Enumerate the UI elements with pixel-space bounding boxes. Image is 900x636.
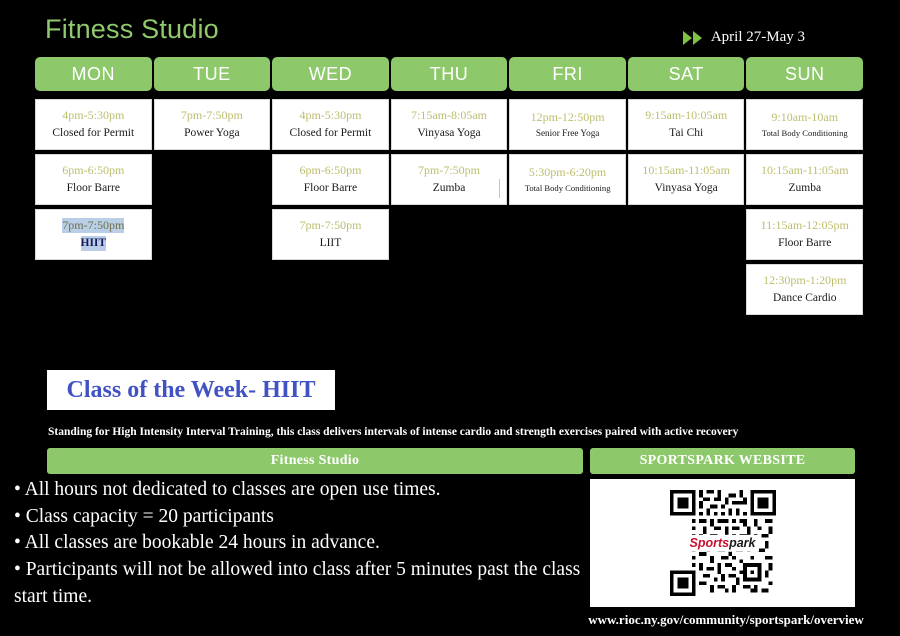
class-name: Closed for Permit bbox=[290, 126, 372, 141]
class-cell[interactable]: 7pm-7:50pmLIIT bbox=[272, 209, 389, 260]
class-of-the-week-description: Standing for High Intensity Interval Tra… bbox=[48, 426, 838, 438]
day-header-row: MON TUE WED THU FRI SAT SUN bbox=[35, 57, 863, 91]
day-header-sat[interactable]: SAT bbox=[628, 57, 745, 91]
class-name: Floor Barre bbox=[304, 181, 357, 196]
class-cell[interactable]: 6pm-6:50pmFloor Barre bbox=[272, 154, 389, 205]
class-cell[interactable]: 4pm-5:30pmClosed for Permit bbox=[272, 99, 389, 150]
day-header-fri[interactable]: FRI bbox=[509, 57, 626, 91]
class-time: 5:30pm-6:20pm bbox=[529, 165, 606, 180]
class-time: 9:10am-10am bbox=[771, 110, 838, 125]
class-time: 11:15am-12:05pm bbox=[761, 218, 849, 233]
class-cell[interactable]: 6pm-6:50pmFloor Barre bbox=[35, 154, 152, 205]
class-cell[interactable]: 5:30pm-6:20pmTotal Body Conditioning bbox=[509, 154, 626, 205]
class-cell[interactable]: 9:15am-10:05amTai Chi bbox=[628, 99, 745, 150]
class-time: 7pm-7:50pm bbox=[299, 218, 361, 233]
day-column-wed: 4pm-5:30pmClosed for Permit6pm-6:50pmFlo… bbox=[272, 99, 389, 315]
day-column-fri: 12pm-12:50pmSenior Free Yoga5:30pm-6:20p… bbox=[509, 99, 626, 315]
class-of-the-week-title: Class of the Week- HIIT bbox=[67, 377, 316, 404]
class-time: 7:15am-8:05am bbox=[411, 108, 487, 123]
text-cursor bbox=[499, 179, 500, 198]
day-column-thu: 7:15am-8:05amVinyasa Yoga7pm-7:50pmZumba bbox=[391, 99, 508, 315]
class-time: 10:15am-11:05am bbox=[761, 163, 849, 178]
site-url[interactable]: www.rioc.ny.gov/community/sportspark/ove… bbox=[566, 612, 886, 628]
class-name: Dance Cardio bbox=[773, 291, 837, 306]
day-column-mon: 4pm-5:30pmClosed for Permit6pm-6:50pmFlo… bbox=[35, 99, 152, 315]
class-name: Total Body Conditioning bbox=[525, 183, 611, 194]
class-time: 7pm-7:50pm bbox=[181, 108, 243, 123]
class-name: Floor Barre bbox=[67, 181, 120, 196]
day-column-tue: 7pm-7:50pmPower Yoga bbox=[154, 99, 271, 315]
schedule-grid: 4pm-5:30pmClosed for Permit6pm-6:50pmFlo… bbox=[35, 99, 863, 315]
class-time: 12pm-12:50pm bbox=[531, 110, 605, 125]
class-time: 7pm-7:50pm bbox=[62, 218, 124, 233]
class-cell[interactable]: 7pm-7:50pmHIIT bbox=[35, 209, 152, 260]
class-cell[interactable]: 4pm-5:30pmClosed for Permit bbox=[35, 99, 152, 150]
class-name: Tai Chi bbox=[669, 126, 703, 141]
class-cell[interactable]: 10:15am-11:05amVinyasa Yoga bbox=[628, 154, 745, 205]
class-name: Vinyasa Yoga bbox=[417, 126, 480, 141]
class-name: HIIT bbox=[81, 236, 107, 251]
info-bullet: • All hours not dedicated to classes are… bbox=[14, 477, 586, 504]
class-time: 4pm-5:30pm bbox=[62, 108, 124, 123]
day-header-thu[interactable]: THU bbox=[391, 57, 508, 91]
class-name: Zumba bbox=[788, 181, 821, 196]
class-time: 7pm-7:50pm bbox=[418, 163, 480, 178]
info-list: • All hours not dedicated to classes are… bbox=[14, 477, 586, 611]
double-right-arrow-icon[interactable] bbox=[683, 31, 702, 45]
day-header-wed[interactable]: WED bbox=[272, 57, 389, 91]
sportspark-logo: Sportspark bbox=[687, 535, 759, 552]
date-range: April 27-May 3 bbox=[683, 29, 805, 46]
class-name: Power Yoga bbox=[184, 126, 240, 141]
info-bullet: • Participants will not be allowed into … bbox=[14, 557, 586, 610]
class-cell[interactable]: 7pm-7:50pmZumba bbox=[391, 154, 508, 205]
class-time: 12:30pm-1:20pm bbox=[763, 273, 846, 288]
class-time: 9:15am-10:05am bbox=[645, 108, 727, 123]
class-time: 6pm-6:50pm bbox=[62, 163, 124, 178]
class-cell[interactable]: 7pm-7:50pmPower Yoga bbox=[154, 99, 271, 150]
day-column-sat: 9:15am-10:05amTai Chi10:15am-11:05amViny… bbox=[628, 99, 745, 315]
day-header-sun[interactable]: SUN bbox=[746, 57, 863, 91]
class-name: Vinyasa Yoga bbox=[655, 181, 718, 196]
day-column-sun: 9:10am-10amTotal Body Conditioning10:15a… bbox=[746, 99, 863, 315]
class-name: Floor Barre bbox=[778, 236, 831, 251]
date-range-label: April 27-May 3 bbox=[711, 29, 805, 46]
class-cell[interactable]: 12pm-12:50pmSenior Free Yoga bbox=[509, 99, 626, 150]
class-time: 4pm-5:30pm bbox=[299, 108, 361, 123]
class-time: 6pm-6:50pm bbox=[299, 163, 361, 178]
class-time: 10:15am-11:05am bbox=[642, 163, 730, 178]
qr-code-icon[interactable]: Sportspark bbox=[670, 490, 776, 596]
qr-panel: Sportspark bbox=[590, 479, 855, 607]
day-header-tue[interactable]: TUE bbox=[154, 57, 271, 91]
page-title: Fitness Studio bbox=[45, 14, 219, 45]
fitness-studio-bar[interactable]: Fitness Studio bbox=[47, 448, 583, 474]
class-cell[interactable]: 9:10am-10amTotal Body Conditioning bbox=[746, 99, 863, 150]
class-cell[interactable]: 7:15am-8:05amVinyasa Yoga bbox=[391, 99, 508, 150]
sportspark-website-bar[interactable]: SPORTSPARK WEBSITE bbox=[590, 448, 855, 474]
class-cell[interactable]: 10:15am-11:05amZumba bbox=[746, 154, 863, 205]
day-header-mon[interactable]: MON bbox=[35, 57, 152, 91]
class-name: Total Body Conditioning bbox=[762, 128, 848, 139]
class-cell[interactable]: 12:30pm-1:20pmDance Cardio bbox=[746, 264, 863, 315]
class-cell[interactable]: 11:15am-12:05pmFloor Barre bbox=[746, 209, 863, 260]
class-name: LIIT bbox=[320, 236, 342, 251]
class-name: Zumba bbox=[433, 181, 466, 196]
class-name: Closed for Permit bbox=[52, 126, 134, 141]
logo-park-text: park bbox=[729, 536, 755, 550]
logo-sports-text: Sports bbox=[690, 536, 730, 550]
info-bullet: • Class capacity = 20 participants bbox=[14, 504, 586, 531]
class-name: Senior Free Yoga bbox=[536, 128, 600, 140]
class-of-the-week-box: Class of the Week- HIIT bbox=[47, 370, 335, 410]
info-bullet: • All classes are bookable 24 hours in a… bbox=[14, 530, 586, 557]
